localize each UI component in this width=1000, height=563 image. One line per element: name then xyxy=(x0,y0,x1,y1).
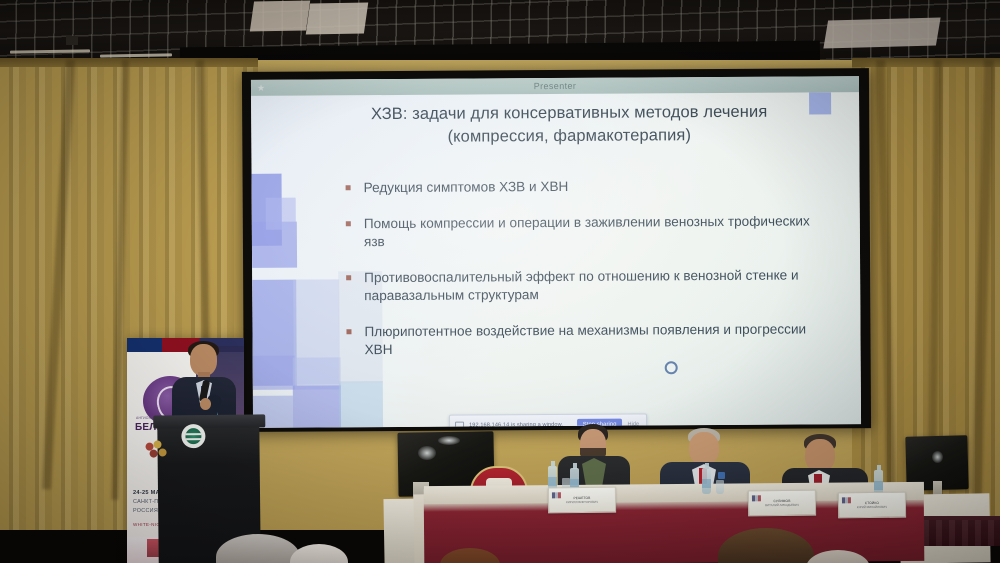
slide-bullet-item: Противовоспалительный эффект по отношени… xyxy=(346,266,816,306)
ring-cursor-icon xyxy=(665,361,678,374)
podium-top-surface xyxy=(153,414,265,428)
slide-bullet-list: Редукция симптомов ХЗВ и ХВН Помощь комп… xyxy=(346,176,817,376)
nameplate-right: СТОЙКО ЮРИЙ МИХАЙЛОВИЧ xyxy=(838,492,906,519)
nameplate-logo-icon xyxy=(552,492,561,498)
podium-emblem-icon xyxy=(181,424,205,448)
monitor-glare xyxy=(932,451,943,463)
projection-screen: ★ Presenter ХЗВ: задачи для консервативн… xyxy=(251,76,861,428)
slide-bullet-item: Помощь компрессии и операции в заживлени… xyxy=(346,212,816,252)
bottle-label xyxy=(702,479,711,488)
slide-decoration xyxy=(339,381,383,427)
nameplate-subtitle: ВИТАЛИЙ АРКАДЬЕВИЧ xyxy=(752,503,812,508)
presentation-slide: ХЗВ: задачи для консервативных методов л… xyxy=(251,92,861,428)
nameplate-subtitle: ЮРИЙ МИХАЙЛОВИЧ xyxy=(842,505,902,510)
slide-decoration xyxy=(809,92,831,114)
curtain-rail-right xyxy=(852,58,1000,67)
slide-decoration xyxy=(293,385,341,427)
slide-bullet-text: Противовоспалительный эффект по отношени… xyxy=(364,266,816,306)
nameplate-subtitle: КИРИЛЛ ВИКТОРОВИЧ xyxy=(552,500,612,505)
lapel-pin-icon xyxy=(718,472,725,479)
nameplate-left: РЕШЕТОВ КИРИЛЛ ВИКТОРОВИЧ xyxy=(548,487,616,514)
water-bottle xyxy=(702,468,711,494)
monitor-glare xyxy=(438,436,460,445)
ceiling-light-fixture xyxy=(66,36,78,45)
slide-decoration xyxy=(253,356,295,390)
flower xyxy=(150,450,158,458)
bullet-marker-icon xyxy=(346,185,351,190)
audience-head xyxy=(290,544,348,563)
ceiling-panel xyxy=(250,1,310,32)
slide-decoration xyxy=(266,198,296,230)
podium-emblem-inner xyxy=(185,428,201,444)
slide-bullet-item: Редукция симптомов ХЗВ и ХВН xyxy=(346,176,816,197)
nameplate-center: СУЛИМОВ ВИТАЛИЙ АРКАДЬЕВИЧ xyxy=(748,490,816,517)
bullet-marker-icon xyxy=(346,221,351,226)
slide-bullet-item: Плюрипотентное воздействие на механизмы … xyxy=(346,320,816,360)
nameplate-logo-icon xyxy=(752,495,761,501)
drinking-glass xyxy=(716,480,724,494)
speaker-hand xyxy=(200,398,211,410)
bullet-marker-icon xyxy=(346,275,351,280)
flower-arrangement-icon xyxy=(145,440,171,466)
ceiling-panel xyxy=(306,2,369,34)
flower xyxy=(159,448,167,456)
bottle-label xyxy=(874,481,883,490)
panelist-head xyxy=(689,432,719,465)
nameplate-logo-icon xyxy=(842,497,851,503)
flower xyxy=(153,440,161,448)
bullet-marker-icon xyxy=(346,329,351,334)
bottle-label xyxy=(548,477,557,486)
monitor-glare xyxy=(418,446,436,460)
banner-country: РОССИЯ xyxy=(133,508,158,514)
slide-bullet-text: Помощь компрессии и операции в заживлени… xyxy=(364,212,816,252)
slide-bullet-text: Плюрипотентное воздействие на механизмы … xyxy=(364,320,816,360)
ceiling-panel xyxy=(823,18,940,49)
slide-bullet-text: Редукция симптомов ХЗВ и ХВН xyxy=(364,178,569,198)
conference-hall-screenshot: ★ Presenter ХЗВ: задачи для консервативн… xyxy=(0,0,1000,563)
slide-title: ХЗВ: задачи для консервативных методов л… xyxy=(339,101,799,150)
